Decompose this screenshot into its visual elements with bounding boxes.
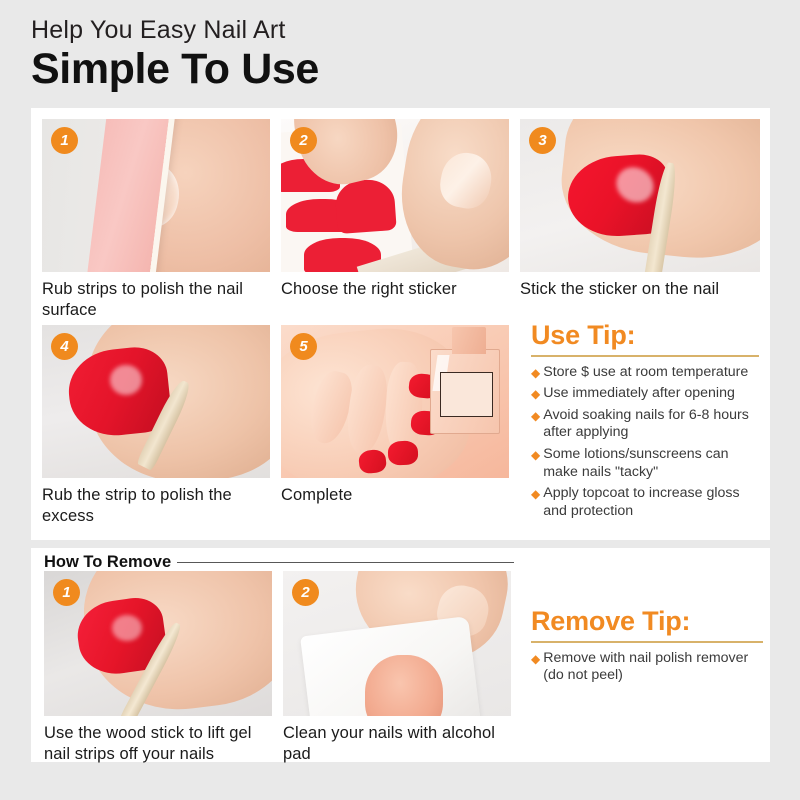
sticker-sheet-photo: 2: [281, 119, 509, 272]
step-badge-1: 1: [51, 127, 78, 154]
remove-step-caption-2: Clean your nails with alcohol pad: [283, 723, 511, 765]
how-to-remove-heading: How To Remove: [44, 553, 514, 572]
remove-step-caption-1: Use the wood stick to lift gel nail stri…: [44, 723, 272, 765]
remove-tip-item: ◆ Remove with nail polish remover (do no…: [531, 650, 763, 685]
use-tip-item: ◆ Store $ use at room temperature: [531, 364, 759, 382]
apply-sticker-photo: 3: [520, 119, 760, 272]
diamond-bullet-icon: ◆: [531, 365, 540, 381]
nail-file-photo: 1: [42, 119, 270, 272]
step-caption-2: Choose the right sticker: [281, 279, 509, 300]
use-tip-item: ◆ Use immediately after opening: [531, 385, 759, 403]
diamond-bullet-icon: ◆: [531, 447, 540, 463]
remove-tip-text: Remove with nail polish remover (do not …: [543, 650, 763, 685]
step-badge-2: 2: [290, 127, 317, 154]
use-tip-text: Use immediately after opening: [543, 385, 735, 403]
use-tip-block: Use Tip: ◆ Store $ use at room temperatu…: [531, 322, 759, 524]
how-to-remove-label: How To Remove: [44, 553, 171, 572]
diamond-bullet-icon: ◆: [531, 386, 540, 402]
how-to-remove-divider: [177, 562, 514, 564]
remove-tip-title: Remove Tip:: [531, 608, 763, 635]
diamond-bullet-icon: ◆: [531, 486, 540, 502]
step-caption-3: Stick the sticker on the nail: [520, 279, 760, 300]
step-caption-4: Rub the strip to polish the excess: [42, 485, 270, 527]
diamond-bullet-icon: ◆: [531, 408, 540, 424]
wood-stick-lift-photo: 1: [44, 571, 272, 716]
use-tip-text: Apply topcoat to increase gloss and prot…: [543, 485, 759, 520]
use-tip-item: ◆ Some lotions/sunscreens can make nails…: [531, 446, 759, 481]
alcohol-pad-photo: 2: [283, 571, 511, 716]
step-badge-5: 5: [290, 333, 317, 360]
step-badge-3: 3: [529, 127, 556, 154]
use-tip-text: Avoid soaking nails for 6-8 hours after …: [543, 407, 759, 442]
use-tip-divider: [531, 355, 759, 357]
remove-step-badge-2: 2: [292, 579, 319, 606]
diamond-bullet-icon: ◆: [531, 651, 540, 667]
header-subtitle: Help You Easy Nail Art: [31, 16, 771, 44]
use-tip-list: ◆ Store $ use at room temperature ◆ Use …: [531, 364, 759, 521]
use-tip-title: Use Tip:: [531, 322, 759, 349]
step-caption-1: Rub strips to polish the nail surface: [42, 279, 270, 321]
use-tip-text: Some lotions/sunscreens can make nails "…: [543, 446, 759, 481]
step-card-5: 5 Complete: [281, 325, 509, 506]
step-card-1: 1 Rub strips to polish the nail surface: [42, 119, 270, 321]
step-caption-5: Complete: [281, 485, 509, 506]
use-tip-item: ◆ Avoid soaking nails for 6-8 hours afte…: [531, 407, 759, 442]
step-badge-4: 4: [51, 333, 78, 360]
remove-step-card-1: 1 Use the wood stick to lift gel nail st…: [44, 571, 272, 765]
remove-tip-block: Remove Tip: ◆ Remove with nail polish re…: [531, 608, 763, 689]
step-card-3: 3 Stick the sticker on the nail: [520, 119, 760, 300]
step-card-4: 4 Rub the strip to polish the excess: [42, 325, 270, 527]
finished-hand-photo: 5: [281, 325, 509, 478]
remove-tip-list: ◆ Remove with nail polish remover (do no…: [531, 650, 763, 685]
page-title: Simple To Use: [31, 45, 771, 93]
use-tip-text: Store $ use at room temperature: [543, 364, 748, 382]
use-tip-item: ◆ Apply topcoat to increase gloss and pr…: [531, 485, 759, 520]
remove-step-card-2: 2 Clean your nails with alcohol pad: [283, 571, 511, 765]
step-card-2: 2 Choose the right sticker: [281, 119, 509, 300]
remove-step-badge-1: 1: [53, 579, 80, 606]
polish-excess-photo: 4: [42, 325, 270, 478]
page-header: Help You Easy Nail Art Simple To Use: [31, 16, 771, 93]
remove-tip-divider: [531, 641, 763, 643]
